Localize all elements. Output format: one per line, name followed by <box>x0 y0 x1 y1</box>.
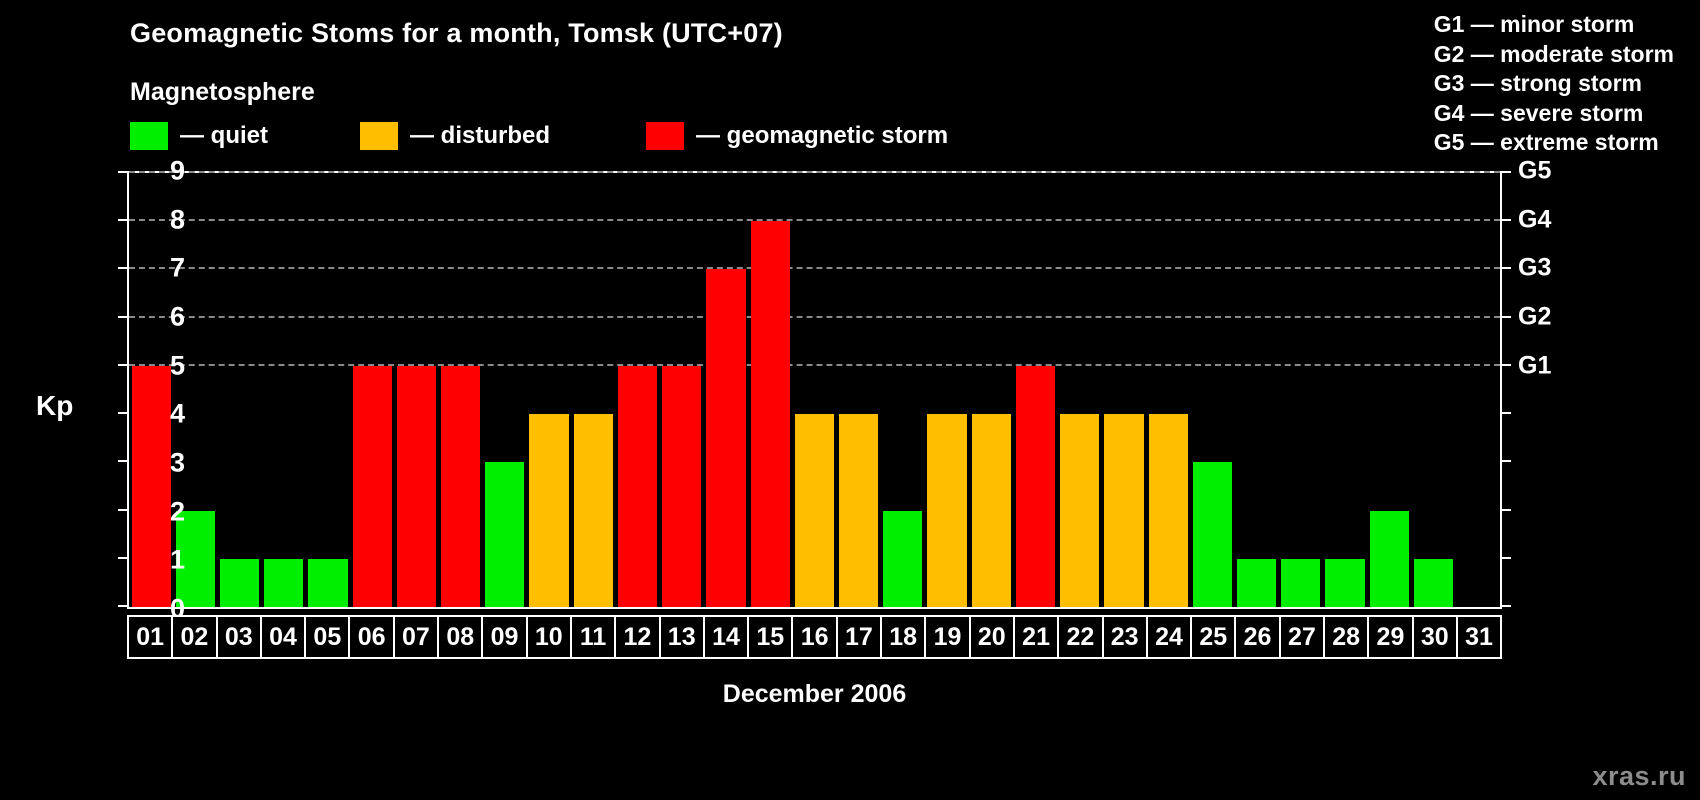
bar-day-26[interactable] <box>1237 559 1276 607</box>
y-tick-7 <box>118 267 129 269</box>
right-tick-3 <box>1500 460 1511 462</box>
right-tick-1 <box>1500 557 1511 559</box>
day-label-18[interactable]: 18 <box>882 617 926 657</box>
bar-cell-03[interactable] <box>217 173 261 607</box>
bar-cell-17[interactable] <box>837 173 881 607</box>
bar-cell-22[interactable] <box>1058 173 1102 607</box>
bar-day-03[interactable] <box>220 559 259 607</box>
day-label-31[interactable]: 31 <box>1458 617 1500 657</box>
y-tick-label-2: 2 <box>145 496 185 527</box>
day-label-17[interactable]: 17 <box>838 617 882 657</box>
y-axis-title: Kp <box>36 390 73 422</box>
day-label-26[interactable]: 26 <box>1236 617 1280 657</box>
bar-day-04[interactable] <box>264 559 303 607</box>
bar-cell-23[interactable] <box>1102 173 1146 607</box>
bar-day-21[interactable] <box>1016 366 1055 607</box>
plot-area <box>127 171 1502 609</box>
right-axis-label-g4: G4 <box>1518 205 1551 234</box>
bar-cell-04[interactable] <box>262 173 306 607</box>
day-label-15[interactable]: 15 <box>749 617 793 657</box>
bar-cell-05[interactable] <box>306 173 350 607</box>
y-tick-5 <box>118 364 129 366</box>
bar-day-28[interactable] <box>1325 559 1364 607</box>
bar-day-06[interactable] <box>353 366 392 607</box>
bar-day-30[interactable] <box>1414 559 1453 607</box>
day-label-06[interactable]: 06 <box>350 617 394 657</box>
bar-cell-28[interactable] <box>1323 173 1367 607</box>
bar-cell-29[interactable] <box>1367 173 1411 607</box>
bar-cell-18[interactable] <box>881 173 925 607</box>
day-label-03[interactable]: 03 <box>218 617 262 657</box>
day-label-05[interactable]: 05 <box>306 617 350 657</box>
day-label-27[interactable]: 27 <box>1281 617 1325 657</box>
bar-day-29[interactable] <box>1370 511 1409 607</box>
bar-day-14[interactable] <box>706 269 745 607</box>
day-label-29[interactable]: 29 <box>1369 617 1413 657</box>
chart-page: Geomagnetic Stoms for a month, Tomsk (UT… <box>0 0 1700 800</box>
right-tick-8 <box>1500 219 1511 221</box>
right-tick-2 <box>1500 509 1511 511</box>
bar-cell-08[interactable] <box>439 173 483 607</box>
bar-day-15[interactable] <box>751 221 790 607</box>
bar-day-20[interactable] <box>972 414 1011 607</box>
bar-cell-26[interactable] <box>1234 173 1278 607</box>
right-axis-label-g3: G3 <box>1518 254 1551 283</box>
day-label-10[interactable]: 10 <box>528 617 572 657</box>
y-tick-4 <box>118 412 129 414</box>
bar-day-25[interactable] <box>1193 462 1232 607</box>
y-tick-label-6: 6 <box>145 302 185 333</box>
x-axis-day-labels: 0102030405060708091011121314151617181920… <box>127 615 1502 659</box>
day-label-04[interactable]: 04 <box>262 617 306 657</box>
y-tick-8 <box>118 219 129 221</box>
day-label-20[interactable]: 20 <box>971 617 1015 657</box>
day-label-02[interactable]: 02 <box>173 617 217 657</box>
bar-cell-13[interactable] <box>660 173 704 607</box>
bar-cell-21[interactable] <box>1013 173 1057 607</box>
bar-cell-16[interactable] <box>792 173 836 607</box>
day-label-13[interactable]: 13 <box>661 617 705 657</box>
bar-day-13[interactable] <box>662 366 701 607</box>
bar-cell-20[interactable] <box>969 173 1013 607</box>
y-tick-2 <box>118 509 129 511</box>
y-tick-label-1: 1 <box>145 545 185 576</box>
bar-day-07[interactable] <box>397 366 436 607</box>
day-label-21[interactable]: 21 <box>1015 617 1059 657</box>
bar-day-23[interactable] <box>1104 414 1143 607</box>
day-label-01[interactable]: 01 <box>129 617 173 657</box>
bar-day-24[interactable] <box>1149 414 1188 607</box>
right-axis-label-g1: G1 <box>1518 351 1551 380</box>
day-label-14[interactable]: 14 <box>705 617 749 657</box>
y-tick-3 <box>118 460 129 462</box>
bar-cell-10[interactable] <box>527 173 571 607</box>
day-label-08[interactable]: 08 <box>439 617 483 657</box>
day-label-24[interactable]: 24 <box>1148 617 1192 657</box>
bar-cell-01[interactable] <box>129 173 173 607</box>
bar-cell-24[interactable] <box>1146 173 1190 607</box>
y-tick-label-9: 9 <box>145 156 185 187</box>
bar-day-16[interactable] <box>795 414 834 607</box>
bar-cell-31[interactable] <box>1456 173 1500 607</box>
bar-cell-25[interactable] <box>1190 173 1234 607</box>
bar-cell-27[interactable] <box>1279 173 1323 607</box>
bar-cell-07[interactable] <box>394 173 438 607</box>
day-label-23[interactable]: 23 <box>1104 617 1148 657</box>
y-tick-label-3: 3 <box>145 448 185 479</box>
bar-day-09[interactable] <box>485 462 524 607</box>
y-tick-label-8: 8 <box>145 204 185 235</box>
bar-day-10[interactable] <box>529 414 568 607</box>
right-tick-7 <box>1500 267 1511 269</box>
day-label-25[interactable]: 25 <box>1192 617 1236 657</box>
day-label-30[interactable]: 30 <box>1414 617 1458 657</box>
bar-cell-02[interactable] <box>173 173 217 607</box>
bar-day-27[interactable] <box>1281 559 1320 607</box>
bar-day-22[interactable] <box>1060 414 1099 607</box>
bar-day-17[interactable] <box>839 414 878 607</box>
bar-series <box>129 173 1500 607</box>
bar-cell-19[interactable] <box>925 173 969 607</box>
right-axis-label-g2: G2 <box>1518 303 1551 332</box>
bar-cell-11[interactable] <box>571 173 615 607</box>
bar-cell-06[interactable] <box>350 173 394 607</box>
right-tick-4 <box>1500 412 1511 414</box>
day-label-16[interactable]: 16 <box>793 617 837 657</box>
day-label-11[interactable]: 11 <box>572 617 616 657</box>
right-axis-label-g5: G5 <box>1518 157 1551 186</box>
y-tick-label-4: 4 <box>145 399 185 430</box>
bar-day-05[interactable] <box>308 559 347 607</box>
day-label-22[interactable]: 22 <box>1059 617 1103 657</box>
right-tick-9 <box>1500 171 1511 173</box>
day-label-28[interactable]: 28 <box>1325 617 1369 657</box>
right-tick-5 <box>1500 364 1511 366</box>
day-label-07[interactable]: 07 <box>395 617 439 657</box>
y-tick-6 <box>118 316 129 318</box>
bar-cell-14[interactable] <box>704 173 748 607</box>
day-label-19[interactable]: 19 <box>926 617 970 657</box>
y-tick-label-7: 7 <box>145 253 185 284</box>
y-tick-1 <box>118 557 129 559</box>
bar-day-18[interactable] <box>883 511 922 607</box>
right-tick-6 <box>1500 316 1511 318</box>
y-tick-9 <box>118 171 129 173</box>
bar-cell-12[interactable] <box>615 173 659 607</box>
right-tick-0 <box>1500 605 1511 607</box>
bar-day-11[interactable] <box>574 414 613 607</box>
x-axis-caption: December 2006 <box>127 680 1502 709</box>
bar-cell-30[interactable] <box>1411 173 1455 607</box>
bar-cell-09[interactable] <box>483 173 527 607</box>
bar-day-08[interactable] <box>441 366 480 607</box>
bar-day-19[interactable] <box>927 414 966 607</box>
day-label-12[interactable]: 12 <box>616 617 660 657</box>
watermark: xras.ru <box>1592 761 1686 792</box>
y-tick-0 <box>118 605 129 607</box>
day-label-09[interactable]: 09 <box>483 617 527 657</box>
bar-day-12[interactable] <box>618 366 657 607</box>
bar-cell-15[interactable] <box>748 173 792 607</box>
y-tick-label-5: 5 <box>145 350 185 381</box>
